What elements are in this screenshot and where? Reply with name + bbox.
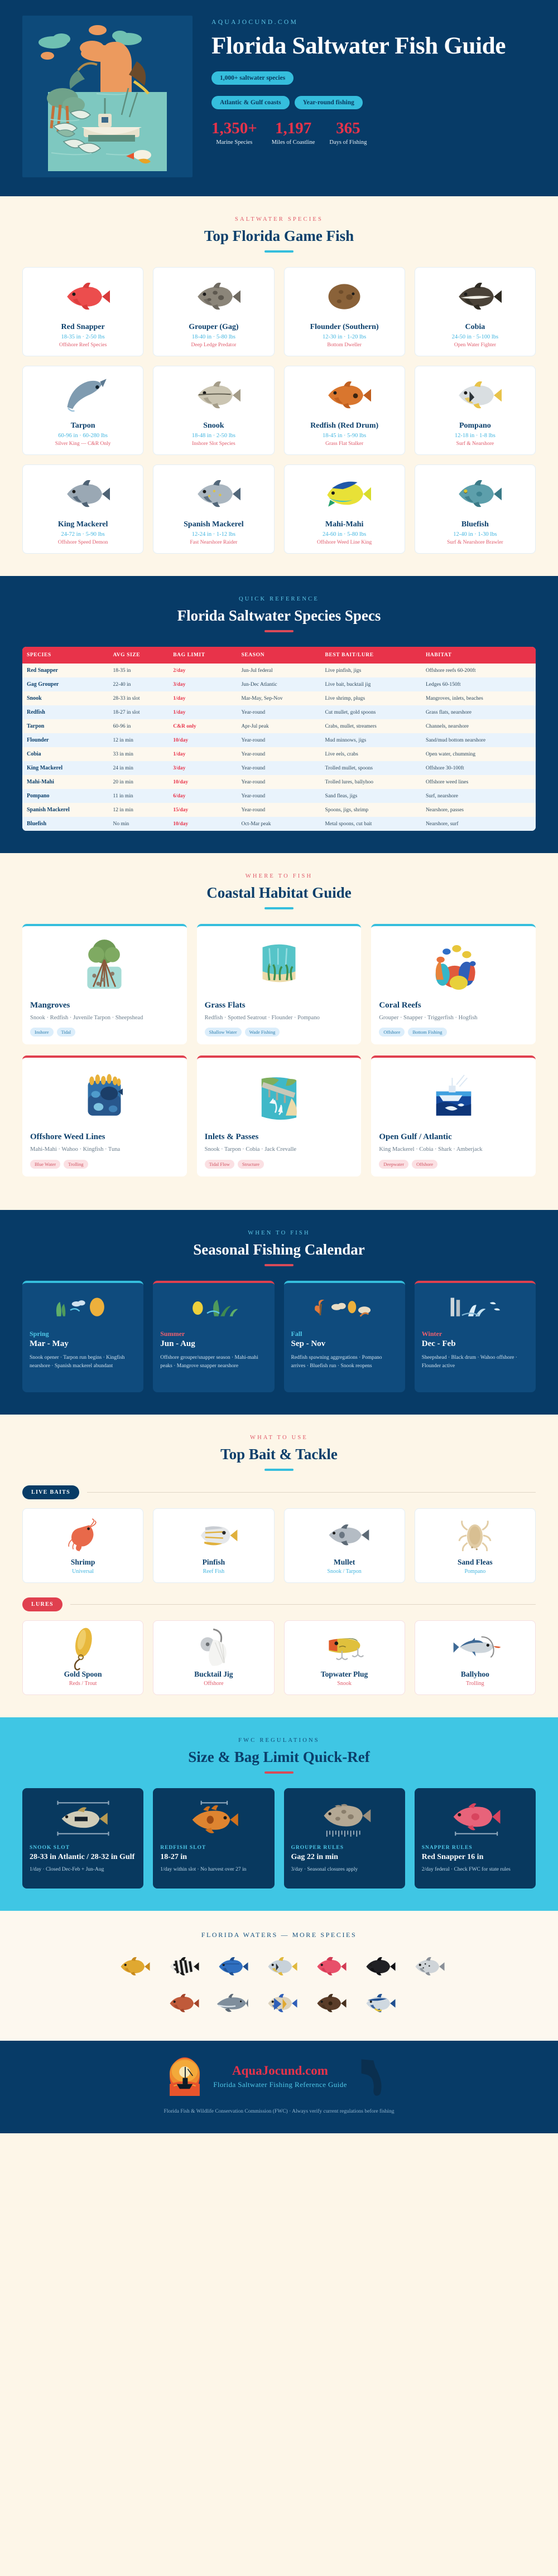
species-size: 18-45 in · 5-90 lbs	[289, 433, 400, 439]
regulation-label: GROUPER RULES	[291, 1845, 398, 1851]
table-cell: Trolled mullet, spoons	[321, 761, 421, 775]
habitat-card[interactable]: Offshore Weed LinesMahi-Mahi · Wahoo · K…	[22, 1055, 187, 1176]
title-rule	[264, 1264, 294, 1266]
table-cell: Mud minnows, jigs	[321, 733, 421, 747]
table-cell: Cut mullet, gold spoons	[321, 705, 421, 719]
table-cell: 11 in min	[108, 789, 169, 803]
table-row: Cobia33 in min1/dayYear-roundLive eels, …	[22, 747, 536, 761]
sportfish-boat-icon	[379, 1067, 528, 1127]
hero-pill-row: 1,000+ saltwater species	[211, 71, 536, 85]
specs-eyebrow: QUICK REFERENCE	[22, 596, 536, 602]
species-name: Redfish (Red Drum)	[289, 422, 400, 430]
bait-card[interactable]: BallyhooTrolling	[415, 1620, 536, 1695]
divider-line	[87, 1492, 536, 1493]
table-row: Flounder12 in min10/dayYear-roundMud min…	[22, 733, 536, 747]
table-cell: Offshore 30-100ft	[421, 761, 536, 775]
habitat-chip: Trolling	[64, 1160, 88, 1169]
mahi-mahi-icon	[289, 473, 400, 515]
season-months: Mar - May	[30, 1339, 136, 1349]
species-title: Top Florida Game Fish	[22, 227, 536, 245]
table-cell: Nearshore, surf	[421, 817, 536, 831]
bait-target: Snook / Tarpon	[289, 1568, 400, 1575]
species-size: 60-96 in · 60-280 lbs	[27, 433, 138, 439]
species-card[interactable]: Redfish (Red Drum)18-45 in · 5-90 lbsGra…	[284, 366, 405, 455]
regulation-value: Red Snapper 16 in	[422, 1852, 528, 1862]
stat-label: Marine Species	[211, 139, 257, 146]
regulation-value: Gag 22 in min	[291, 1852, 398, 1862]
footer-site-name: AquaJocund.com	[213, 2064, 347, 2078]
habitat-grid-row2: Offshore Weed LinesMahi-Mahi · Wahoo · K…	[22, 1055, 536, 1176]
specs-section: QUICK REFERENCE Florida Saltwater Specie…	[0, 576, 558, 853]
table-cell: 22-40 in	[108, 677, 169, 691]
hero-illustration	[22, 16, 193, 177]
species-size: 12-40 in · 1-30 lbs	[420, 531, 531, 538]
season-grid: SpringMar - MaySnook opener · Tarpon run…	[22, 1281, 536, 1392]
season-notes: Snook opener · Tarpon run begins · Kingf…	[30, 1354, 136, 1371]
table-cell: Ledges 60-150ft	[421, 677, 536, 691]
table-cell: Open water, chumming	[421, 747, 536, 761]
bait-eyebrow: WHAT TO USE	[22, 1435, 536, 1441]
table-cell: Year-round	[237, 705, 320, 719]
bait-card[interactable]: Bucktail JigOffshore	[153, 1620, 274, 1695]
bait-card[interactable]: Topwater PlugSnook	[284, 1620, 405, 1695]
table-cell: Trolled lures, ballyhoo	[321, 775, 421, 789]
live-baits-badge: LIVE BAITS	[22, 1485, 79, 1499]
species-card[interactable]: Snook18-48 in · 2-50 lbsInshore Slot Spe…	[153, 366, 274, 455]
fall-icon	[291, 1291, 398, 1325]
table-cell: Sand fleas, jigs	[321, 789, 421, 803]
table-row: King Mackerel24 in min3/dayYear-roundTro…	[22, 761, 536, 775]
table-cell: C&R only	[169, 719, 237, 733]
winter-icon	[422, 1291, 528, 1325]
habitat-chip: Bottom Fishing	[408, 1028, 446, 1037]
table-cell: Year-round	[237, 789, 320, 803]
habitat-chip-row: DeepwaterOffshore	[379, 1160, 528, 1169]
table-cell: 1/day	[169, 705, 237, 719]
specs-title: Florida Saltwater Species Specs	[22, 607, 536, 624]
habitat-title: Coastal Habitat Guide	[22, 884, 536, 902]
redfish-icon	[289, 374, 400, 417]
habitat-species-list: Mahi-Mahi · Wahoo · Kingfish · Tuna	[30, 1145, 179, 1154]
regulation-value: 18-27 in	[160, 1852, 267, 1862]
title-rule	[264, 1469, 294, 1471]
page-title: Florida Saltwater Fish Guide	[211, 32, 536, 60]
table-cell: 1/day	[169, 691, 237, 705]
table-cell: Tarpon	[22, 719, 108, 733]
habitat-name: Offshore Weed Lines	[30, 1132, 179, 1142]
goliath-grouper-icon	[307, 1988, 349, 2018]
table-cell: 12 in min	[108, 803, 169, 817]
habitat-section: WHERE TO FISH Coastal Habitat Guide Mang…	[0, 853, 558, 1210]
species-card[interactable]: Cobia24-50 in · 5-100 lbsOpen Water Figh…	[415, 267, 536, 356]
bait-name: Mullet	[289, 1558, 400, 1567]
footer-legal-text: Florida Fish & Wildlife Conservation Com…	[22, 2109, 536, 2114]
table-column-header: SEASON	[237, 647, 320, 664]
hero-stats: 1,350+ Marine Species 1,197 Miles of Coa…	[211, 120, 536, 146]
species-card[interactable]: King Mackerel24-72 in · 5-90 lbsOffshore…	[22, 464, 143, 554]
species-name: King Mackerel	[27, 520, 138, 529]
snook-icon	[158, 374, 269, 417]
habitat-card[interactable]: MangrovesSnook · Redfish · Juvenile Tarp…	[22, 924, 187, 1044]
bait-name: Gold Spoon	[27, 1670, 138, 1679]
tarpon-icon	[27, 374, 138, 417]
season-card[interactable]: FallSep - NovRedfish spawning aggregatio…	[284, 1281, 405, 1392]
stat-label: Days of Fishing	[329, 139, 367, 146]
habitat-chip-row: OffshoreBottom Fishing	[379, 1028, 528, 1037]
habitat-chip-row: Shallow WaterWade Fishing	[205, 1028, 354, 1037]
blackfin-tuna-icon	[357, 1988, 398, 2018]
season-card[interactable]: WinterDec - FebSheepshead · Black drum ·…	[415, 1281, 536, 1392]
habitat-chip: Offshore	[412, 1160, 437, 1169]
live-baits-header: LIVE BAITS	[22, 1485, 536, 1499]
table-column-header: BEST BAIT/LURE	[321, 647, 421, 664]
table-body: Red Snapper18-35 in2/dayJun-Jul federalL…	[22, 664, 536, 831]
table-cell: Cobia	[22, 747, 108, 761]
species-card[interactable]: Spanish Mackerel12-24 in · 1-12 lbsFast …	[153, 464, 274, 554]
species-tag: Surf & Nearshore	[420, 441, 531, 447]
bait-name: Pinfish	[158, 1558, 269, 1567]
table-row: Spanish Mackerel12 in min15/dayYear-roun…	[22, 803, 536, 817]
habitat-chip: Tidal	[57, 1028, 76, 1037]
table-row: BluefishNo min10/dayOct-Mar peakMetal sp…	[22, 817, 536, 831]
table-cell: Mangroves, inlets, beaches	[421, 691, 536, 705]
more-species-row1	[22, 1952, 536, 1982]
table-cell: 60-96 in	[108, 719, 169, 733]
regulation-card[interactable]: SNAPPER RULESRed Snapper 16 in2/day fede…	[415, 1788, 536, 1889]
season-months: Sep - Nov	[291, 1339, 398, 1349]
sheepshead-icon	[160, 1952, 201, 1982]
regulation-note: 3/day · Seasonal closures apply	[291, 1866, 398, 1874]
table-cell: Live pinfish, jigs	[321, 664, 421, 677]
table-cell: Spoons, jigs, shrimp	[321, 803, 421, 817]
table-row: Snook28-33 in slot1/dayMar-May, Sep-NovL…	[22, 691, 536, 705]
regulation-card[interactable]: REDFISH SLOT18-27 in1/day within slot · …	[153, 1788, 274, 1889]
table-cell: Crabs, mullet, streamers	[321, 719, 421, 733]
table-cell: Oct-Mar peak	[237, 817, 320, 831]
season-title: Seasonal Fishing Calendar	[22, 1241, 536, 1258]
table-cell: Red Snapper	[22, 664, 108, 677]
table-cell: Jun-Dec Atlantic	[237, 677, 320, 691]
summer-icon	[160, 1291, 267, 1325]
table-cell: 18-35 in	[108, 664, 169, 677]
table-cell: Pompano	[22, 789, 108, 803]
stat-item: 365 Days of Fishing	[329, 120, 367, 146]
bait-target: Offshore	[158, 1681, 269, 1687]
season-name: Spring	[30, 1330, 136, 1338]
season-notes: Redfish spawning aggregations · Pompano …	[291, 1354, 398, 1371]
footer-brand-row: AquaJocund.com Florida Saltwater Fishing…	[22, 2056, 536, 2096]
habitat-chip-row: Blue WaterTrolling	[30, 1160, 179, 1169]
lures-grid: Gold SpoonReds / TroutBucktail JigOffsho…	[22, 1620, 536, 1695]
grouper-ruler-icon	[291, 1796, 398, 1841]
regulation-label: SNOOK SLOT	[30, 1845, 136, 1851]
species-name: Spanish Mackerel	[158, 520, 269, 529]
species-size: 24-60 in · 5-80 lbs	[289, 531, 400, 538]
mangrove-icon	[30, 935, 179, 995]
habitat-chip-row: Tidal FlowStructure	[205, 1160, 354, 1169]
habitat-eyebrow: WHERE TO FISH	[22, 873, 536, 879]
bait-target: Reds / Trout	[27, 1681, 138, 1687]
table-cell: King Mackerel	[22, 761, 108, 775]
hero-pill: 1,000+ saltwater species	[211, 71, 294, 85]
habitat-chip: Wade Fishing	[245, 1028, 280, 1037]
mullet-icon	[289, 1517, 400, 1553]
bait-card[interactable]: PinfishReef Fish	[153, 1508, 274, 1583]
species-card[interactable]: Pompano12-18 in · 1-8 lbsSurf & Nearshor…	[415, 366, 536, 455]
regulation-label: SNAPPER RULES	[422, 1845, 528, 1851]
season-card[interactable]: SummerJun - AugOffshore grouper/snapper …	[153, 1281, 274, 1392]
bait-card[interactable]: ShrimpUniversal	[22, 1508, 143, 1583]
more-species-section: FLORIDA WATERS — MORE SPECIES	[0, 1911, 558, 2041]
season-months: Jun - Aug	[160, 1339, 267, 1349]
table-cell: Sand/mud bottom nearshore	[421, 733, 536, 747]
habitat-name: Grass Flats	[205, 1001, 354, 1010]
season-card[interactable]: SpringMar - MaySnook opener · Tarpon run…	[22, 1281, 143, 1392]
seagrass-icon	[205, 935, 354, 995]
permit-icon	[258, 1952, 300, 1982]
infographic-page: AQUAJOCUND.COM Florida Saltwater Fish Gu…	[0, 0, 558, 2133]
species-name: Pompano	[420, 422, 531, 430]
regulation-card[interactable]: SNOOK SLOT28-33 in Atlantic / 28-32 in G…	[22, 1788, 143, 1889]
habitat-species-list: Grouper · Snapper · Triggerfish · Hogfis…	[379, 1014, 528, 1023]
regulation-note: 1/day · Closed Dec-Feb + Jun-Aug	[30, 1866, 136, 1874]
bluefish-icon	[420, 473, 531, 515]
snapper-measure-icon	[422, 1796, 528, 1841]
season-months: Dec - Feb	[422, 1339, 528, 1349]
table-cell: Nearshore, passes	[421, 803, 536, 817]
lures-badge: LURES	[22, 1597, 62, 1611]
stat-label: Miles of Coastline	[272, 139, 315, 146]
habitat-chip: Offshore	[379, 1028, 405, 1037]
habitat-chip: Structure	[238, 1160, 264, 1169]
season-name: Summer	[160, 1330, 267, 1338]
table-column-header: HABITAT	[421, 647, 536, 664]
species-name: Grouper (Gag)	[158, 323, 269, 332]
species-card[interactable]: Mahi-Mahi24-60 in · 5-80 lbsOffshore Wee…	[284, 464, 405, 554]
species-card[interactable]: Red Snapper18-35 in · 2-50 lbsOffshore R…	[22, 267, 143, 356]
season-name: Fall	[291, 1330, 398, 1338]
stat-item: 1,197 Miles of Coastline	[272, 120, 315, 146]
table-cell: 33 in min	[108, 747, 169, 761]
triggerfish-icon	[258, 1988, 300, 2018]
table-row: Gag Grouper22-40 in3/dayJun-Dec Atlantic…	[22, 677, 536, 691]
table-cell: Year-round	[237, 747, 320, 761]
hero-section: AQUAJOCUND.COM Florida Saltwater Fish Gu…	[0, 0, 558, 196]
bait-name: Topwater Plug	[289, 1670, 400, 1679]
table-cell: 10/day	[169, 775, 237, 789]
species-card[interactable]: Grouper (Gag)18-40 in · 5-80 lbsDeep Led…	[153, 267, 274, 356]
regs-eyebrow: FWC REGULATIONS	[22, 1737, 536, 1744]
table-cell: Gag Grouper	[22, 677, 108, 691]
bait-section: WHAT TO USE Top Bait & Tackle LIVE BAITS…	[0, 1415, 558, 1717]
seatrout-icon	[406, 1952, 447, 1982]
species-tag: Bottom Dweller	[289, 342, 400, 348]
cobia-icon	[420, 275, 531, 318]
title-rule	[264, 907, 294, 909]
table-cell: 12 in min	[108, 733, 169, 747]
season-notes: Sheepshead · Black drum · Wahoo offshore…	[422, 1354, 528, 1371]
regulation-note: 2/day federal · Check FWC for state rule…	[422, 1866, 528, 1874]
species-tag: Offshore Reef Species	[27, 342, 138, 348]
florida-map-icon	[359, 2056, 389, 2096]
table-cell: 28-33 in slot	[108, 691, 169, 705]
bait-name: Sand Fleas	[420, 1558, 531, 1567]
footer-tagline: Florida Saltwater Fishing Reference Guid…	[213, 2080, 347, 2089]
species-card[interactable]: Bluefish12-40 in · 1-30 lbsSurf & Nearsh…	[415, 464, 536, 554]
bait-card[interactable]: MulletSnook / Tarpon	[284, 1508, 405, 1583]
shrimp-icon	[27, 1517, 138, 1553]
table-header-row: SPECIESAVG SIZEBAG LIMITSEASONBEST BAIT/…	[22, 647, 536, 664]
species-card[interactable]: Flounder (Southern)12-30 in · 1-20 lbsBo…	[284, 267, 405, 356]
regulation-card[interactable]: GROUPER RULESGag 22 in min3/day · Season…	[284, 1788, 405, 1889]
live-baits-grid: ShrimpUniversalPinfishReef FishMulletSno…	[22, 1508, 536, 1583]
table-row: Red Snapper18-35 in2/dayJun-Jul federalL…	[22, 664, 536, 677]
table-cell: Flounder	[22, 733, 108, 747]
table-cell: Spanish Mackerel	[22, 803, 108, 817]
species-size: 12-18 in · 1-8 lbs	[420, 433, 531, 439]
ballyhoo-icon	[420, 1629, 531, 1665]
season-section: WHEN TO FISH Seasonal Fishing Calendar S…	[0, 1210, 558, 1415]
season-eyebrow: WHEN TO FISH	[22, 1230, 536, 1236]
table-cell: Surf, nearshore	[421, 789, 536, 803]
king-mackerel-icon	[27, 473, 138, 515]
habitat-chip-row: InshoreTidal	[30, 1028, 179, 1037]
species-size: 24-72 in · 5-90 lbs	[27, 531, 138, 538]
table-cell: 24 in min	[108, 761, 169, 775]
species-tag: Deep Ledge Predator	[158, 342, 269, 348]
table-cell: Snook	[22, 691, 108, 705]
habitat-card[interactable]: Inlets & PassesSnook · Tarpon · Cobia · …	[197, 1055, 362, 1176]
table-cell: Year-round	[237, 761, 320, 775]
bait-target: Universal	[27, 1568, 138, 1575]
inlet-bridge-icon	[205, 1067, 354, 1127]
table-cell: Year-round	[237, 733, 320, 747]
habitat-species-list: Snook · Tarpon · Cobia · Jack Crevalle	[205, 1145, 354, 1154]
habitat-name: Open Gulf / Atlantic	[379, 1132, 528, 1142]
bait-target: Pompano	[420, 1568, 531, 1575]
more-species-title: FLORIDA WATERS — MORE SPECIES	[22, 1931, 536, 1939]
species-size: 12-30 in · 1-20 lbs	[289, 334, 400, 340]
habitat-chip: Blue Water	[30, 1160, 60, 1169]
regulations-section: FWC REGULATIONS Size & Bag Limit Quick-R…	[0, 1717, 558, 1911]
table-cell: Year-round	[237, 803, 320, 817]
jack-crevalle-icon	[111, 1952, 152, 1982]
table-row: Mahi-Mahi20 in min10/dayYear-roundTrolle…	[22, 775, 536, 789]
species-size: 18-40 in · 5-80 lbs	[158, 334, 269, 340]
coral-reef-icon	[379, 935, 528, 995]
bait-card[interactable]: Sand FleasPompano	[415, 1508, 536, 1583]
bait-title: Top Bait & Tackle	[22, 1446, 536, 1463]
species-tag: Offshore Weed Line King	[289, 540, 400, 545]
sunset-boat-logo-icon	[169, 2057, 201, 2096]
table-cell: Bluefish	[22, 817, 108, 831]
species-eyebrow: SALTWATER SPECIES	[22, 216, 536, 222]
table-cell: 3/day	[169, 677, 237, 691]
regs-grid: SNOOK SLOT28-33 in Atlantic / 28-32 in G…	[22, 1788, 536, 1889]
species-card[interactable]: Tarpon60-96 in · 60-280 lbsSilver King —…	[22, 366, 143, 455]
species-tag: Silver King — C&R Only	[27, 441, 138, 447]
species-name: Bluefish	[420, 520, 531, 529]
habitat-card[interactable]: Coral ReefsGrouper · Snapper · Triggerfi…	[371, 924, 536, 1044]
bait-target: Snook	[289, 1681, 400, 1687]
table-row: Pompano11 in min6/dayYear-roundSand flea…	[22, 789, 536, 803]
black-drum-icon	[357, 1952, 398, 1982]
species-grid: Red Snapper18-35 in · 2-50 lbsOffshore R…	[22, 267, 536, 554]
table-cell: Live bait, bucktail jig	[321, 677, 421, 691]
table-cell: Mahi-Mahi	[22, 775, 108, 789]
habitat-species-list: King Mackerel · Cobia · Shark · Amberjac…	[379, 1145, 528, 1154]
season-notes: Offshore grouper/snapper season · Mahi-m…	[160, 1354, 267, 1371]
sand-flea-icon	[420, 1517, 531, 1553]
habitat-chip: Shallow Water	[205, 1028, 242, 1037]
species-name: Mahi-Mahi	[289, 520, 400, 529]
species-tag: Fast Nearshore Raider	[158, 540, 269, 545]
table-cell: Offshore reefs 60-200ft	[421, 664, 536, 677]
spring-icon	[30, 1291, 136, 1325]
redfish-measure-icon	[160, 1796, 267, 1841]
footer-brand: AquaJocund.com Florida Saltwater Fishing…	[213, 2064, 347, 2089]
table-column-header: BAG LIMIT	[169, 647, 237, 664]
table-row: Redfish18-27 in slot1/dayYear-roundCut m…	[22, 705, 536, 719]
regulation-label: REDFISH SLOT	[160, 1845, 267, 1851]
species-size: 12-24 in · 1-12 lbs	[158, 531, 269, 538]
habitat-grid-row1: MangrovesSnook · Redfish · Juvenile Tarp…	[22, 924, 536, 1044]
season-name: Winter	[422, 1330, 528, 1338]
pinfish-icon	[158, 1517, 269, 1553]
species-tag: Open Water Fighter	[420, 342, 531, 348]
species-tag: Grass Flat Stalker	[289, 441, 400, 447]
hero-pill: Atlantic & Gulf coasts	[211, 96, 290, 109]
hogfish-icon	[307, 1952, 349, 1982]
table-row: Tarpon60-96 inC&R onlyApr-Jul peakCrabs,…	[22, 719, 536, 733]
table-cell: Mar-May, Sep-Nov	[237, 691, 320, 705]
shark-icon	[209, 1988, 251, 2018]
regs-title: Size & Bag Limit Quick-Ref	[22, 1749, 536, 1766]
table-cell: Jun-Jul federal	[237, 664, 320, 677]
gag-grouper-icon	[158, 275, 269, 318]
topwater-plug-icon	[289, 1629, 400, 1665]
habitat-chip: Deepwater	[379, 1160, 408, 1169]
regulation-note: 1/day within slot · No harvest over 27 i…	[160, 1866, 267, 1874]
table-cell: 1/day	[169, 747, 237, 761]
table-cell: 10/day	[169, 733, 237, 747]
more-species-row2	[22, 1988, 536, 2018]
species-tag: Surf & Nearshore Brawler	[420, 540, 531, 545]
species-size: 24-50 in · 5-100 lbs	[420, 334, 531, 340]
habitat-card[interactable]: Grass FlatsRedfish · Spotted Seatrout · …	[197, 924, 362, 1044]
habitat-card[interactable]: Open Gulf / AtlanticKing Mackerel · Cobi…	[371, 1055, 536, 1176]
species-name: Snook	[158, 422, 269, 430]
flounder-icon	[289, 275, 400, 318]
pompano-icon	[420, 374, 531, 417]
spanish-mackerel-icon	[158, 473, 269, 515]
species-name: Cobia	[420, 323, 531, 332]
bait-card[interactable]: Gold SpoonReds / Trout	[22, 1620, 143, 1695]
habitat-chip: Inshore	[30, 1028, 54, 1037]
species-tag: Inshore Slot Species	[158, 441, 269, 447]
species-size: 18-48 in · 2-50 lbs	[158, 433, 269, 439]
divider-line	[70, 1604, 536, 1605]
habitat-name: Inlets & Passes	[205, 1132, 354, 1142]
table-cell: Apr-Jul peak	[237, 719, 320, 733]
mangrove-snapper-icon	[160, 1988, 201, 2018]
table-cell: Channels, nearshore	[421, 719, 536, 733]
habitat-species-list: Snook · Redfish · Juvenile Tarpon · Shee…	[30, 1014, 179, 1023]
species-section: SALTWATER SPECIES Top Florida Game Fish …	[0, 196, 558, 576]
table-column-header: AVG SIZE	[108, 647, 169, 664]
habitat-chip: Tidal Flow	[205, 1160, 234, 1169]
table-column-header: SPECIES	[22, 647, 108, 664]
